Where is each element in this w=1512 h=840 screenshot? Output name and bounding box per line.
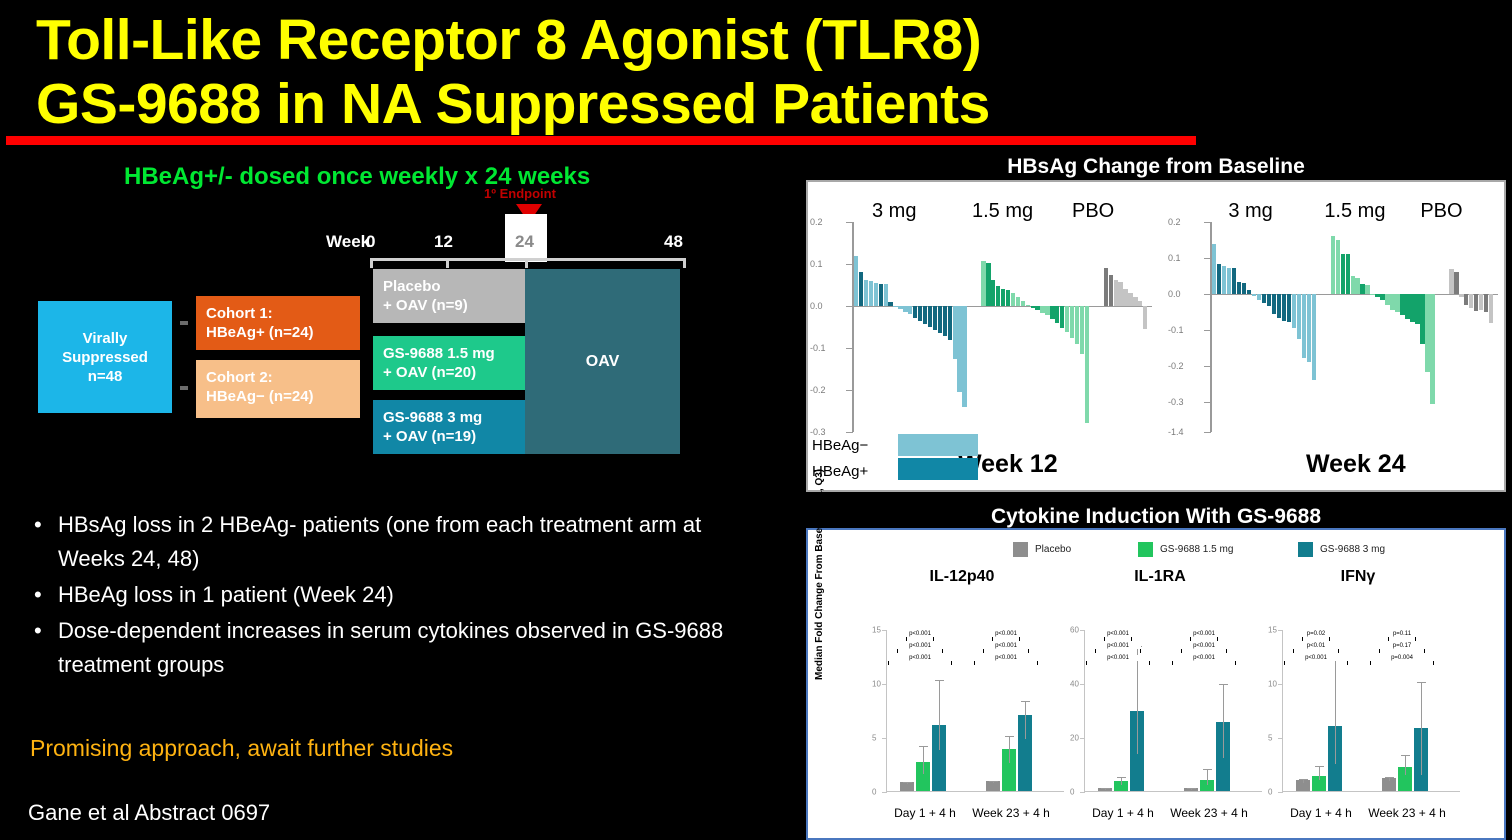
waterfall-bar — [1070, 306, 1074, 338]
waterfall-bar — [1114, 280, 1118, 306]
cytokine-subpanel-title: IFNγ — [1252, 568, 1464, 586]
cytokine-x-label: Day 1 + 4 h — [884, 806, 966, 820]
waterfall-bar — [1272, 294, 1276, 314]
cytokine-error-cap — [1187, 788, 1196, 789]
waterfall-bar — [1217, 264, 1221, 293]
cytokine-y-tick-label: 40 — [1070, 680, 1079, 689]
cytokine-plot-area: 051015p<0.001p<0.001p<0.001p<0.001p<0.00… — [856, 630, 1068, 792]
cytokine-x-label: Week 23 + 4 h — [970, 806, 1052, 820]
cytokine-y-tick — [882, 738, 887, 739]
waterfall-bar — [1109, 275, 1113, 307]
cytokine-x-label: Week 23 + 4 h — [1366, 806, 1448, 820]
waterfall-bar — [1133, 297, 1137, 306]
waterfall-y-tick — [846, 432, 853, 433]
waterfall-bar — [1267, 294, 1271, 307]
cytokine-y-tick-label: 15 — [872, 626, 881, 635]
waterfall-bar — [1222, 266, 1226, 294]
cytokine-y-tick-label: 15 — [1268, 626, 1277, 635]
title-line-1: Toll-Like Receptor 8 Agonist (TLR8) — [36, 8, 1296, 72]
cytokine-error-cap — [1299, 779, 1308, 780]
cytokine-y-tick — [1278, 684, 1283, 685]
axis-tick-48 — [683, 258, 686, 268]
box-arm-placebo-line2: + OAV (n=9) — [383, 296, 515, 315]
cytokine-y-tick — [1080, 630, 1085, 631]
waterfall-bar — [996, 286, 1000, 306]
waterfall-bar — [893, 306, 897, 307]
waterfall-bar — [1355, 278, 1359, 294]
waterfall-y-tick-label: 0.1 — [1168, 253, 1181, 263]
cytokine-subpanel-title: IL-1RA — [1054, 568, 1266, 586]
waterfall-bar — [1045, 306, 1049, 315]
cytokine-y-axis — [1084, 630, 1085, 792]
axis-tick-24 — [525, 258, 528, 268]
waterfall-bar — [923, 306, 927, 324]
waterfall-bar — [1400, 294, 1404, 316]
cytokine-error-bar — [1421, 682, 1422, 775]
waterfall-bar — [1040, 306, 1044, 313]
timeline-tick-24: 24 — [515, 232, 534, 252]
waterfall-bar — [1075, 306, 1079, 344]
waterfall-y-tick — [1204, 258, 1211, 259]
cytokine-y-tick-label: 10 — [1268, 680, 1277, 689]
waterfall-bar — [1449, 269, 1453, 293]
waterfall-bar — [869, 281, 873, 306]
cytokine-error-cap — [1401, 755, 1410, 756]
cytokine-y-tick-label: 5 — [1268, 734, 1272, 743]
cytokine-error-cap — [935, 680, 944, 681]
waterfall-bar — [953, 306, 957, 359]
waterfall-y-tick-label: 0.2 — [1168, 217, 1181, 227]
cytokine-pvalue-label: p<0.01 — [1293, 643, 1339, 649]
cytokine-y-tick — [882, 630, 887, 631]
waterfall-bar — [938, 306, 942, 333]
list-item: • HBsAg loss in 2 HBeAg- patients (one f… — [24, 508, 744, 576]
waterfall-bar — [1011, 293, 1015, 306]
cytokine-y-tick-label: 5 — [872, 734, 876, 743]
cytokine-y-tick-label: 0 — [872, 788, 876, 797]
waterfall-bar — [913, 306, 917, 318]
waterfall-week-label: Week 24 — [1306, 450, 1406, 479]
box-arm-gs9688-1-5mg-line2: + OAV (n=20) — [383, 363, 515, 382]
waterfall-bar — [1479, 294, 1483, 310]
waterfall-bar — [1360, 284, 1364, 293]
cytokine-legend: PlaceboGS-9688 1.5 mgGS-9688 3 mg — [808, 542, 1504, 564]
cytokine-y-tick-label: 0 — [1268, 788, 1272, 797]
cytokine-pvalue-label: p<0.001 — [1086, 655, 1150, 661]
waterfall-bar — [1302, 294, 1306, 358]
waterfall-dose-labels: 3 mg1.5 mgPBO — [1166, 200, 1506, 228]
waterfall-bar — [1001, 289, 1005, 306]
waterfall-bar — [1118, 282, 1122, 306]
waterfall-bar — [1035, 306, 1039, 310]
primary-endpoint-label: 1º Endpoint — [484, 186, 556, 201]
cytokine-pvalue-label: p=0.11 — [1388, 631, 1416, 637]
cytokine-error-bar — [1319, 766, 1320, 780]
bullet-list: • HBsAg loss in 2 HBeAg- patients (one f… — [24, 508, 744, 684]
cytokine-error-bar — [1137, 646, 1138, 754]
waterfall-y-tick — [846, 390, 853, 391]
waterfall-bar — [1252, 294, 1256, 296]
waterfall-bar — [1242, 283, 1246, 294]
cytokine-error-bar — [1207, 769, 1208, 785]
cytokine-subpanel-ifn-: IFNγDay 1 + 4 hWeek 23 + 4 h051015p<0.00… — [1252, 568, 1464, 836]
waterfall-bar — [1430, 294, 1434, 404]
cytokine-error-cap — [903, 782, 912, 783]
cytokine-pvalue-label: p<0.001 — [983, 643, 1029, 649]
waterfall-bar — [1370, 294, 1374, 295]
cytokine-pvalue-label: p<0.001 — [1284, 655, 1348, 661]
waterfall-bar — [1390, 294, 1394, 311]
cytokine-error-cap — [1021, 701, 1030, 702]
study-design-diagram: 1º Endpoint Week 0 12 24 48 Virally Supp… — [0, 186, 760, 476]
cytokine-chart-title: Cytokine Induction With GS-9688 — [806, 505, 1506, 529]
waterfall-bar — [928, 306, 932, 327]
waterfall-bar — [1282, 294, 1286, 321]
bullet-text-3: Dose-dependent increases in serum cytoki… — [58, 614, 744, 682]
waterfall-bar — [1287, 294, 1291, 322]
cytokine-pvalue-label: p<0.001 — [1095, 643, 1141, 649]
box-cohort-2-line1: Cohort 2: — [206, 368, 350, 387]
slide-title: Toll-Like Receptor 8 Agonist (TLR8) GS-9… — [36, 8, 1296, 136]
waterfall-y-tick — [1204, 330, 1211, 331]
cytokine-pvalue-label: p=0.02 — [1302, 631, 1330, 637]
cytokine-pvalue-label: p<0.001 — [992, 631, 1020, 637]
cytokine-pvalue-label: p<0.001 — [1190, 631, 1218, 637]
cytokine-y-tick — [1080, 792, 1085, 793]
box-cohort-1-line2: HBeAg+ (n=24) — [206, 323, 350, 342]
connector-cohort2 — [180, 386, 188, 390]
dose-label-1-5-mg: 1.5 mg — [1324, 200, 1385, 223]
hbeag-legend: HBeAg−HBeAg+ — [812, 434, 1042, 486]
waterfall-bar — [1489, 294, 1493, 323]
waterfall-y-tick-label: -0.3 — [1168, 397, 1184, 407]
cytokine-error-cap — [1417, 682, 1426, 683]
cytokine-legend-swatch — [1013, 542, 1028, 557]
waterfall-y-tick-label: 0.2 — [810, 217, 823, 227]
waterfall-bar — [1469, 294, 1473, 308]
waterfall-bar — [864, 280, 868, 306]
waterfall-bar — [1331, 236, 1335, 294]
waterfall-bar — [957, 306, 961, 392]
waterfall-bar — [991, 280, 995, 306]
waterfall-bar — [1123, 289, 1127, 306]
waterfall-y-tick-label: -0.2 — [810, 385, 826, 395]
waterfall-bar — [898, 306, 902, 309]
waterfall-bar — [1138, 301, 1142, 306]
cytokine-y-axis — [886, 630, 887, 792]
cytokine-legend-swatch — [1298, 542, 1313, 557]
waterfall-y-tick-label: -0.1 — [1168, 325, 1184, 335]
cytokine-error-bar — [1009, 736, 1010, 763]
box-virally-suppressed: Virally Suppressed n=48 — [38, 301, 172, 413]
axis-tick-12 — [446, 258, 449, 268]
waterfall-bar — [1454, 272, 1458, 294]
waterfall-bar — [1006, 290, 1010, 306]
waterfall-bar — [1143, 306, 1147, 329]
cytokine-y-tick-label: 60 — [1070, 626, 1079, 635]
cytokine-x-label: Day 1 + 4 h — [1280, 806, 1362, 820]
cytokine-pvalue-label: p<0.001 — [1104, 631, 1132, 637]
cytokine-y-tick — [1080, 738, 1085, 739]
box-arm-placebo: Placebo + OAV (n=9) — [373, 269, 525, 323]
box-cohort-2-line2: HBeAg− (n=24) — [206, 387, 350, 406]
cytokine-error-cap — [1117, 777, 1126, 778]
bullet-dot: • — [24, 508, 58, 576]
waterfall-bar — [1385, 294, 1389, 305]
waterfall-bar — [1016, 297, 1020, 306]
waterfall-bar — [1021, 301, 1025, 306]
cytokine-error-cap — [1385, 777, 1394, 778]
cytokine-error-bar — [1405, 755, 1406, 774]
waterfall-bar — [1351, 276, 1355, 294]
cytokine-pvalue-label: p=0.004 — [1370, 655, 1434, 661]
waterfall-bar — [1050, 306, 1054, 319]
waterfall-bar — [1055, 306, 1059, 323]
cytokine-error-bar — [939, 680, 940, 750]
cytokine-plot-area: 0204060p<0.001p<0.001p<0.001p<0.001p<0.0… — [1054, 630, 1266, 792]
waterfall-bar — [1459, 294, 1463, 298]
timeline-tick-48: 48 — [664, 232, 683, 252]
bullet-text-1: HBsAg loss in 2 HBeAg- patients (one fro… — [58, 508, 744, 576]
cytokine-subpanel-title: IL-12p40 — [856, 568, 1068, 586]
waterfall-bar — [1292, 294, 1296, 328]
waterfall-bar — [1065, 306, 1069, 332]
cytokine-y-tick-label: 0 — [1070, 788, 1074, 797]
cytokine-legend-item: GS-9688 3 mg — [1298, 542, 1385, 557]
box-arm-gs9688-3mg-line2: + OAV (n=19) — [383, 427, 515, 446]
waterfall-bar — [1464, 294, 1468, 305]
waterfall-bar — [943, 306, 947, 336]
box-cohort-2: Cohort 2: HBeAg− (n=24) — [196, 360, 360, 418]
waterfall-bar — [1262, 294, 1266, 303]
waterfall-y-tick — [846, 222, 853, 223]
waterfall-bar — [1312, 294, 1316, 380]
cytokine-baseline — [1282, 791, 1460, 792]
cytokine-y-tick — [1080, 684, 1085, 685]
box-oav-label: OAV — [586, 352, 619, 371]
waterfall-dose-labels: 3 mg1.5 mgPBO — [808, 200, 1160, 228]
dose-label-pbo: PBO — [1420, 200, 1462, 223]
cytokine-error-bar — [1121, 777, 1122, 785]
cytokine-x-label: Day 1 + 4 h — [1082, 806, 1164, 820]
cytokine-pvalue-label: p<0.001 — [974, 655, 1038, 661]
list-item: • Dose-dependent increases in serum cyto… — [24, 614, 744, 682]
bullet-text-2: HBeAg loss in 1 patient (Week 24) — [58, 578, 394, 612]
waterfall-bar — [884, 284, 888, 306]
cytokine-y-axis — [1282, 630, 1283, 792]
cytokine-baseline — [886, 791, 1064, 792]
box-virally-suppressed-label: Virally Suppressed n=48 — [62, 329, 148, 386]
dose-label-1-5-mg: 1.5 mg — [972, 200, 1033, 223]
cytokine-error-cap — [919, 746, 928, 747]
cytokine-error-cap — [1203, 769, 1212, 770]
cytokine-chart-panel: PlaceboGS-9688 1.5 mgGS-9688 3 mg Median… — [806, 528, 1506, 840]
waterfall-y-tick-label: 0.0 — [1168, 289, 1181, 299]
hbeag-legend-swatch — [898, 458, 978, 480]
cytokine-pvalue-label: p<0.001 — [1172, 655, 1236, 661]
waterfall-y-tick-label: 0.0 — [810, 301, 823, 311]
box-oav-followup: OAV — [525, 269, 680, 454]
list-item: • HBeAg loss in 1 patient (Week 24) — [24, 578, 744, 612]
waterfall-bar — [1104, 268, 1108, 306]
waterfall-bar — [1380, 294, 1384, 300]
waterfall-bar — [1405, 294, 1409, 319]
waterfall-bar — [1307, 294, 1311, 362]
cytokine-subpanel-il-1ra: IL-1RADay 1 + 4 hWeek 23 + 4 h0204060p<0… — [1054, 568, 1266, 836]
cytokine-legend-label: GS-9688 3 mg — [1320, 544, 1385, 555]
waterfall-bar — [1395, 294, 1399, 313]
waterfall-bar — [879, 284, 883, 306]
cytokine-baseline — [1084, 791, 1262, 792]
bullet-dot: • — [24, 614, 58, 682]
waterfall-bar — [1297, 294, 1301, 339]
waterfall-bar — [1420, 294, 1424, 344]
box-cohort-1-line1: Cohort 1: — [206, 304, 350, 323]
waterfall-y-tick-label: -0.1 — [810, 343, 826, 353]
waterfall-bar — [854, 256, 858, 306]
waterfall-y-tick-label: -0.2 — [1168, 361, 1184, 371]
dose-label-3-mg: 3 mg — [1228, 200, 1272, 223]
waterfall-bar — [981, 261, 985, 306]
waterfall-bar — [908, 306, 912, 314]
waterfall-bar — [962, 306, 966, 407]
cytokine-legend-item: GS-9688 1.5 mg — [1138, 542, 1233, 557]
cytokine-legend-label: GS-9688 1.5 mg — [1160, 544, 1233, 555]
hbeag-legend-swatch — [898, 434, 978, 456]
cytokine-plot-area: 051015p<0.001p<0.01p=0.02p=0.004p=0.17p=… — [1252, 630, 1464, 792]
waterfall-y-tick-label: -1.4 — [1168, 427, 1184, 437]
waterfall-bar — [1247, 290, 1251, 294]
waterfall-bar — [1060, 306, 1064, 328]
cytokine-y-tick — [1278, 630, 1283, 631]
cytokine-error-cap — [1219, 684, 1228, 685]
cytokine-error-bar — [1025, 701, 1026, 739]
cytokine-error-cap — [1315, 766, 1324, 767]
cytokine-y-tick — [882, 792, 887, 793]
waterfall-bar — [1237, 282, 1241, 293]
timeline-axis — [370, 258, 686, 261]
cytokine-y-tick — [1278, 738, 1283, 739]
hbsag-chart-panel: 3 mg1.5 mgPBO0.20.10.0-0.1-0.2-0.3Week 1… — [806, 180, 1506, 492]
waterfall-bar — [888, 302, 892, 306]
box-arm-placebo-line1: Placebo — [383, 277, 515, 296]
timeline-tick-0: 0 — [366, 232, 375, 252]
box-arm-gs9688-3mg: GS-9688 3 mg + OAV (n=19) — [373, 400, 525, 454]
dose-label-pbo: PBO — [1072, 200, 1114, 223]
box-arm-gs9688-1-5mg-line1: GS-9688 1.5 mg — [383, 344, 515, 363]
cytokine-error-cap — [989, 781, 998, 782]
waterfall-bar — [1227, 268, 1231, 294]
cytokine-subpanel-il-12p40: IL-12p40Day 1 + 4 hWeek 23 + 4 h051015p<… — [856, 568, 1068, 836]
conclusion-text: Promising approach, await further studie… — [30, 735, 453, 762]
box-arm-gs9688-3mg-line1: GS-9688 3 mg — [383, 408, 515, 427]
bullet-dot: • — [24, 578, 58, 612]
waterfall-bar — [918, 306, 922, 321]
waterfall-bar — [1415, 294, 1419, 324]
waterfall-bar — [1026, 305, 1030, 306]
cytokine-pvalue-label: p<0.001 — [888, 655, 952, 661]
box-cohort-1: Cohort 1: HBeAg+ (n=24) — [196, 296, 360, 350]
box-arm-gs9688-1-5mg: GS-9688 1.5 mg + OAV (n=20) — [373, 336, 525, 390]
waterfall-bar — [1410, 294, 1414, 322]
waterfall-y-tick — [1204, 366, 1211, 367]
waterfall-bar — [1375, 294, 1379, 298]
waterfall-y-tick — [1204, 222, 1211, 223]
citation-text: Gane et al Abstract 0697 — [28, 800, 270, 826]
waterfall-bar — [859, 272, 863, 306]
waterfall-y-tick-label: 0.1 — [810, 259, 823, 269]
waterfall-y-tick — [846, 264, 853, 265]
waterfall-bar — [986, 263, 990, 306]
cytokine-y-tick — [882, 684, 887, 685]
waterfall-bar — [903, 306, 907, 312]
waterfall-bar — [1080, 306, 1084, 354]
waterfall-y-tick — [1204, 432, 1211, 433]
cytokine-pvalue-label: p<0.001 — [897, 643, 943, 649]
cytokine-pvalue-label: p<0.001 — [1181, 643, 1227, 649]
waterfall-y-tick — [846, 348, 853, 349]
timeline-week-word: Week — [326, 232, 370, 252]
axis-tick-0 — [370, 258, 373, 268]
cytokine-error-cap — [1005, 736, 1014, 737]
cytokine-error-bar — [1335, 657, 1336, 764]
cytokine-y-tick — [1278, 792, 1283, 793]
hbsag-chart-title: HBsAg Change from Baseline — [806, 155, 1506, 179]
title-underline-rule — [6, 136, 1196, 145]
waterfall-bar — [1346, 254, 1350, 294]
waterfall-bar — [1474, 294, 1478, 311]
cytokine-y-tick-label: 10 — [872, 680, 881, 689]
cytokine-pvalue-label: p=0.17 — [1379, 643, 1425, 649]
timeline-tick-12: 12 — [434, 232, 453, 252]
waterfall-bar — [874, 283, 878, 306]
waterfall-bar — [1128, 293, 1132, 306]
waterfall-bar — [1484, 294, 1488, 313]
waterfall-bar — [1341, 254, 1345, 294]
cytokine-x-label: Week 23 + 4 h — [1168, 806, 1250, 820]
cytokine-y-tick-label: 20 — [1070, 734, 1079, 743]
waterfall-bar — [1085, 306, 1089, 423]
waterfall-week12: 3 mg1.5 mgPBO0.20.10.0-0.1-0.2-0.3Week 1… — [808, 182, 1160, 490]
waterfall-bar — [1336, 240, 1340, 294]
hbeag-legend-label: HBeAg− — [812, 437, 868, 454]
waterfall-bar — [1212, 244, 1216, 294]
connector-cohort1 — [180, 321, 188, 325]
waterfall-bar — [948, 306, 952, 340]
dose-label-3-mg: 3 mg — [872, 200, 916, 223]
cytokine-legend-label: Placebo — [1035, 544, 1071, 555]
waterfall-bar — [1365, 285, 1369, 294]
cytokine-error-bar — [923, 746, 924, 774]
waterfall-bar — [1232, 268, 1236, 293]
waterfall-bar — [1257, 294, 1261, 300]
waterfall-bar — [1031, 306, 1035, 308]
waterfall-bar — [1425, 294, 1429, 372]
waterfall-y-axis — [852, 222, 854, 432]
cytokine-pvalue-label: p<0.001 — [906, 631, 934, 637]
cytokine-legend-item: Placebo — [1013, 542, 1071, 557]
cytokine-y-axis-title: Median Fold Change From Baseline (Q1, Q3… — [814, 666, 825, 680]
waterfall-bar — [933, 306, 937, 330]
cytokine-error-cap — [1101, 788, 1110, 789]
cytokine-error-bar — [1223, 684, 1224, 758]
waterfall-week24: 3 mg1.5 mgPBO0.20.10.0-0.1-0.2-0.3-1.4We… — [1166, 182, 1506, 490]
waterfall-y-tick — [1204, 402, 1211, 403]
waterfall-bar — [1277, 294, 1281, 318]
cytokine-legend-swatch — [1138, 542, 1153, 557]
title-line-2: GS-9688 in NA Suppressed Patients — [36, 72, 1296, 136]
